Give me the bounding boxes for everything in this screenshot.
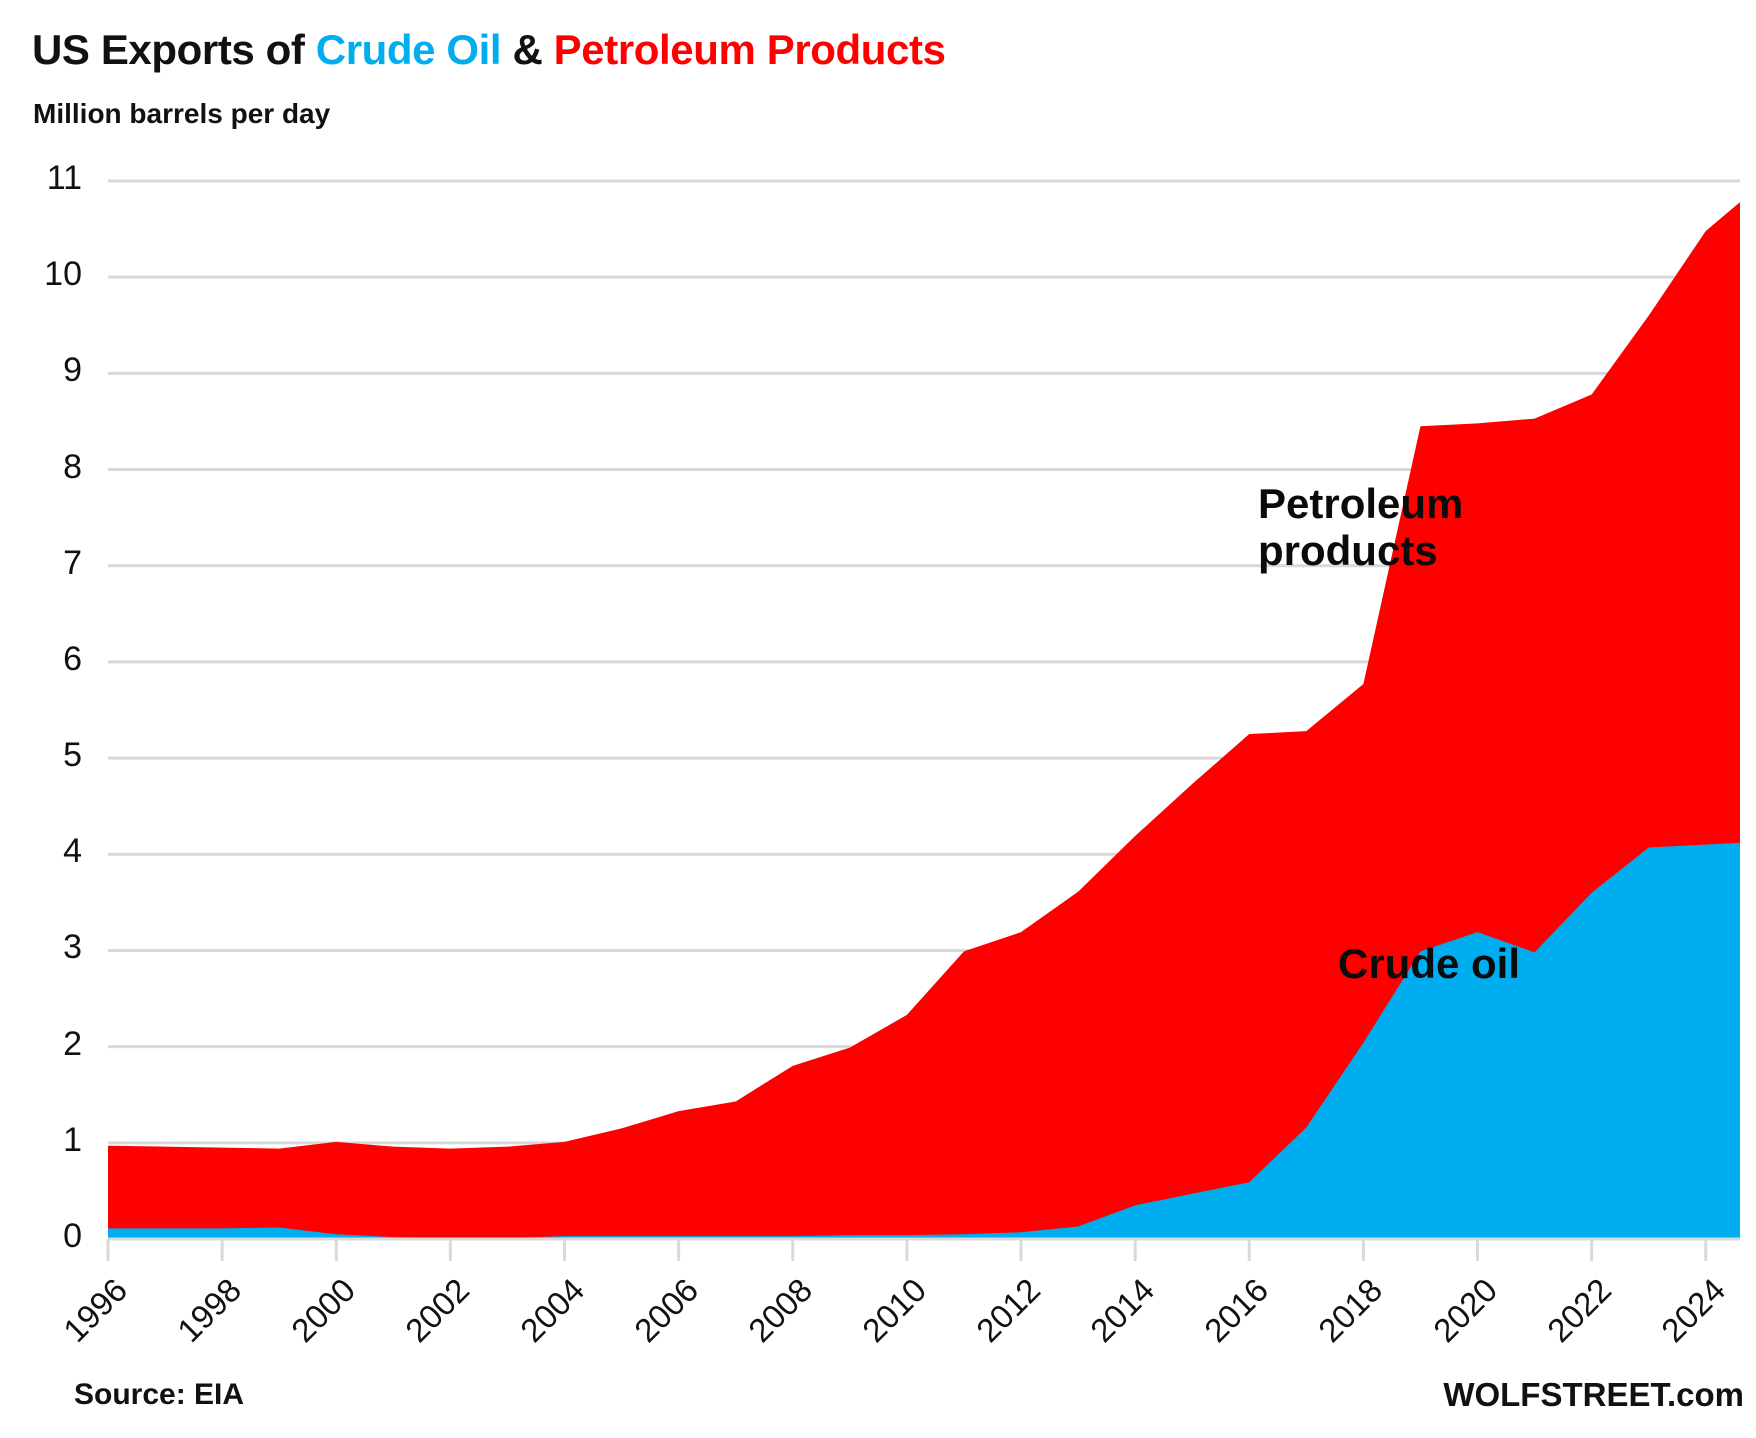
y-axis-tick-label: 4 [12,832,82,871]
y-axis-tick-label: 6 [12,640,82,679]
y-axis-tick-label: 9 [12,351,82,390]
y-axis-tick-label: 5 [12,736,82,775]
y-axis-tick-label: 2 [12,1025,82,1064]
stacked-area-chart [0,0,1756,1438]
chart-page: US Exports of Crude Oil & Petroleum Prod… [0,0,1756,1438]
y-axis-tick-label: 8 [12,448,82,487]
y-axis-tick-label: 3 [12,928,82,967]
watermark: WOLFSTREET.com [1443,1376,1744,1414]
y-axis-tick-label: 10 [12,255,82,294]
y-axis-tick-label: 7 [12,544,82,583]
crude-oil-label: Crude oil [1338,940,1520,987]
source-note: Source: EIA [74,1378,244,1412]
x-axis-ticks [108,1239,1706,1261]
y-axis-tick-label: 0 [12,1217,82,1256]
petroleum-products-label: Petroleum products [1258,480,1463,574]
y-axis-tick-label: 1 [12,1121,82,1160]
y-axis-tick-label: 11 [12,159,82,198]
